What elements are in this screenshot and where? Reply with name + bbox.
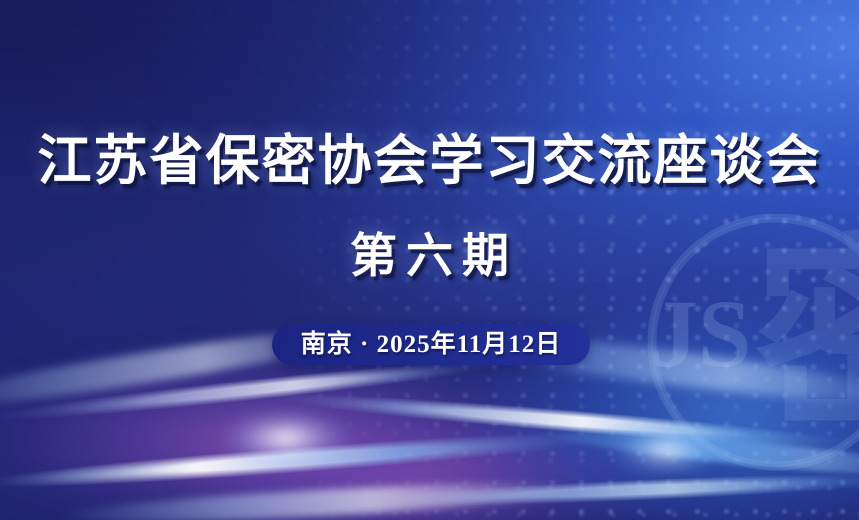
poster-content: 江苏省保密协会学习交流座谈会 第六期 南京 · 2025年11月12日 — [0, 0, 859, 520]
date-location-badge: 南京 · 2025年11月12日 — [272, 324, 590, 365]
event-poster: JS 密 江苏省保密协会学习交流座谈会 第六期 南京 · 2025年11月12日 — [0, 0, 859, 520]
page-title: 江苏省保密协会学习交流座谈会 — [0, 134, 859, 188]
page-subtitle: 第六期 — [0, 234, 859, 281]
date-location-text: 南京 · 2025年11月12日 — [301, 332, 561, 357]
